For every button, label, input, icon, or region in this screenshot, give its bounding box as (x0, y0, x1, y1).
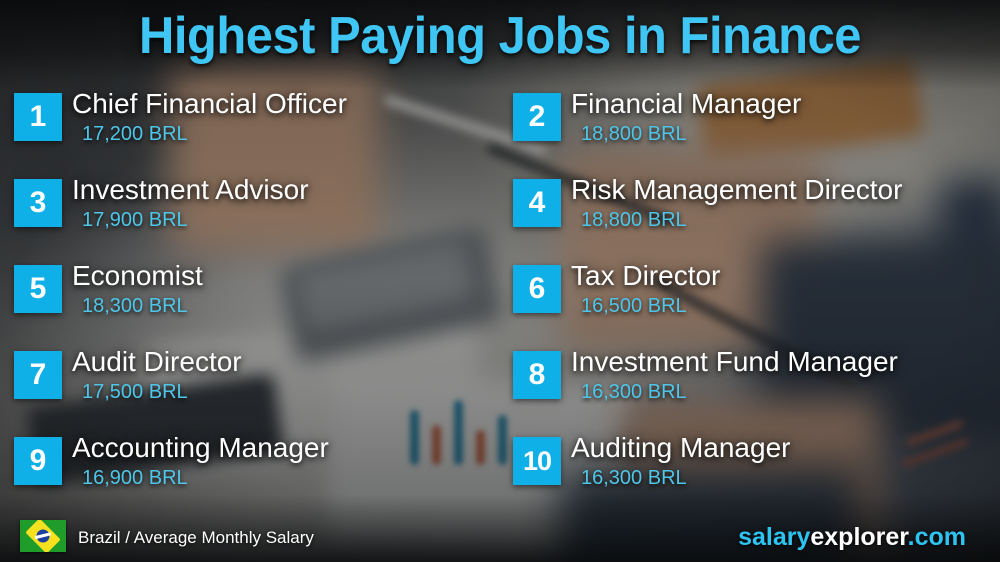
job-title: Investment Advisor (72, 174, 309, 206)
rank-badge: 1 (14, 93, 62, 141)
content-layer: Highest Paying Jobs in Finance 1 Chief F… (0, 0, 1000, 562)
job-title: Investment Fund Manager (571, 346, 898, 378)
brand-part-salary: salary (738, 523, 810, 551)
job-item[interactable]: 10 Auditing Manager 16,300 BRL (513, 432, 1000, 518)
job-salary: 17,900 BRL (82, 209, 188, 232)
job-item[interactable]: 7 Audit Director 17,500 BRL (14, 346, 504, 432)
job-title: Economist (72, 260, 203, 292)
job-salary: 18,800 BRL (581, 123, 687, 146)
rank-badge: 8 (513, 351, 561, 399)
job-title: Accounting Manager (72, 432, 329, 464)
job-salary: 16,500 BRL (581, 295, 687, 318)
job-title: Tax Director (571, 260, 720, 292)
country-label: Brazil / Average Monthly Salary (78, 528, 314, 548)
job-item[interactable]: 3 Investment Advisor 17,900 BRL (14, 174, 504, 260)
rank-badge: 9 (14, 437, 62, 485)
job-item[interactable]: 1 Chief Financial Officer 17,200 BRL (14, 88, 504, 174)
rank-badge: 5 (14, 265, 62, 313)
rank-badge: 2 (513, 93, 561, 141)
footer: Brazil / Average Monthly Salary salaryex… (0, 510, 1000, 562)
rank-badge: 7 (14, 351, 62, 399)
job-title: Risk Management Director (571, 174, 902, 206)
job-title: Audit Director (72, 346, 242, 378)
page-title: Highest Paying Jobs in Finance (30, 6, 970, 66)
rank-badge: 3 (14, 179, 62, 227)
job-salary: 17,200 BRL (82, 123, 188, 146)
rank-badge: 6 (513, 265, 561, 313)
job-title: Financial Manager (571, 88, 801, 120)
job-salary: 16,300 BRL (581, 381, 687, 404)
jobs-row: 7 Audit Director 17,500 BRL 8 Investment… (0, 346, 1000, 432)
rank-badge: 4 (513, 179, 561, 227)
job-salary: 16,300 BRL (581, 467, 687, 490)
job-salary: 16,900 BRL (82, 467, 188, 490)
job-item[interactable]: 4 Risk Management Director 18,800 BRL (513, 174, 1000, 260)
job-salary: 18,800 BRL (581, 209, 687, 232)
brand-part-explorer: explorer (810, 523, 907, 551)
jobs-row: 3 Investment Advisor 17,900 BRL 4 Risk M… (0, 174, 1000, 260)
job-item[interactable]: 2 Financial Manager 18,800 BRL (513, 88, 1000, 174)
job-item[interactable]: 8 Investment Fund Manager 16,300 BRL (513, 346, 1000, 432)
job-item[interactable]: 6 Tax Director 16,500 BRL (513, 260, 1000, 346)
brand-part-tld: .com (908, 523, 966, 551)
jobs-list: 1 Chief Financial Officer 17,200 BRL 2 F… (0, 88, 1000, 518)
jobs-row: 9 Accounting Manager 16,900 BRL 10 Audit… (0, 432, 1000, 518)
brand-logo[interactable]: salaryexplorer.com (738, 523, 966, 552)
job-title: Auditing Manager (571, 432, 790, 464)
infographic-canvas: Highest Paying Jobs in Finance 1 Chief F… (0, 0, 1000, 562)
job-item[interactable]: 9 Accounting Manager 16,900 BRL (14, 432, 504, 518)
jobs-row: 5 Economist 18,300 BRL 6 Tax Director 16… (0, 260, 1000, 346)
brazil-flag-icon (20, 520, 66, 552)
job-item[interactable]: 5 Economist 18,300 BRL (14, 260, 504, 346)
job-title: Chief Financial Officer (72, 88, 347, 120)
rank-badge: 10 (513, 437, 561, 485)
jobs-row: 1 Chief Financial Officer 17,200 BRL 2 F… (0, 88, 1000, 174)
job-salary: 18,300 BRL (82, 295, 188, 318)
job-salary: 17,500 BRL (82, 381, 188, 404)
